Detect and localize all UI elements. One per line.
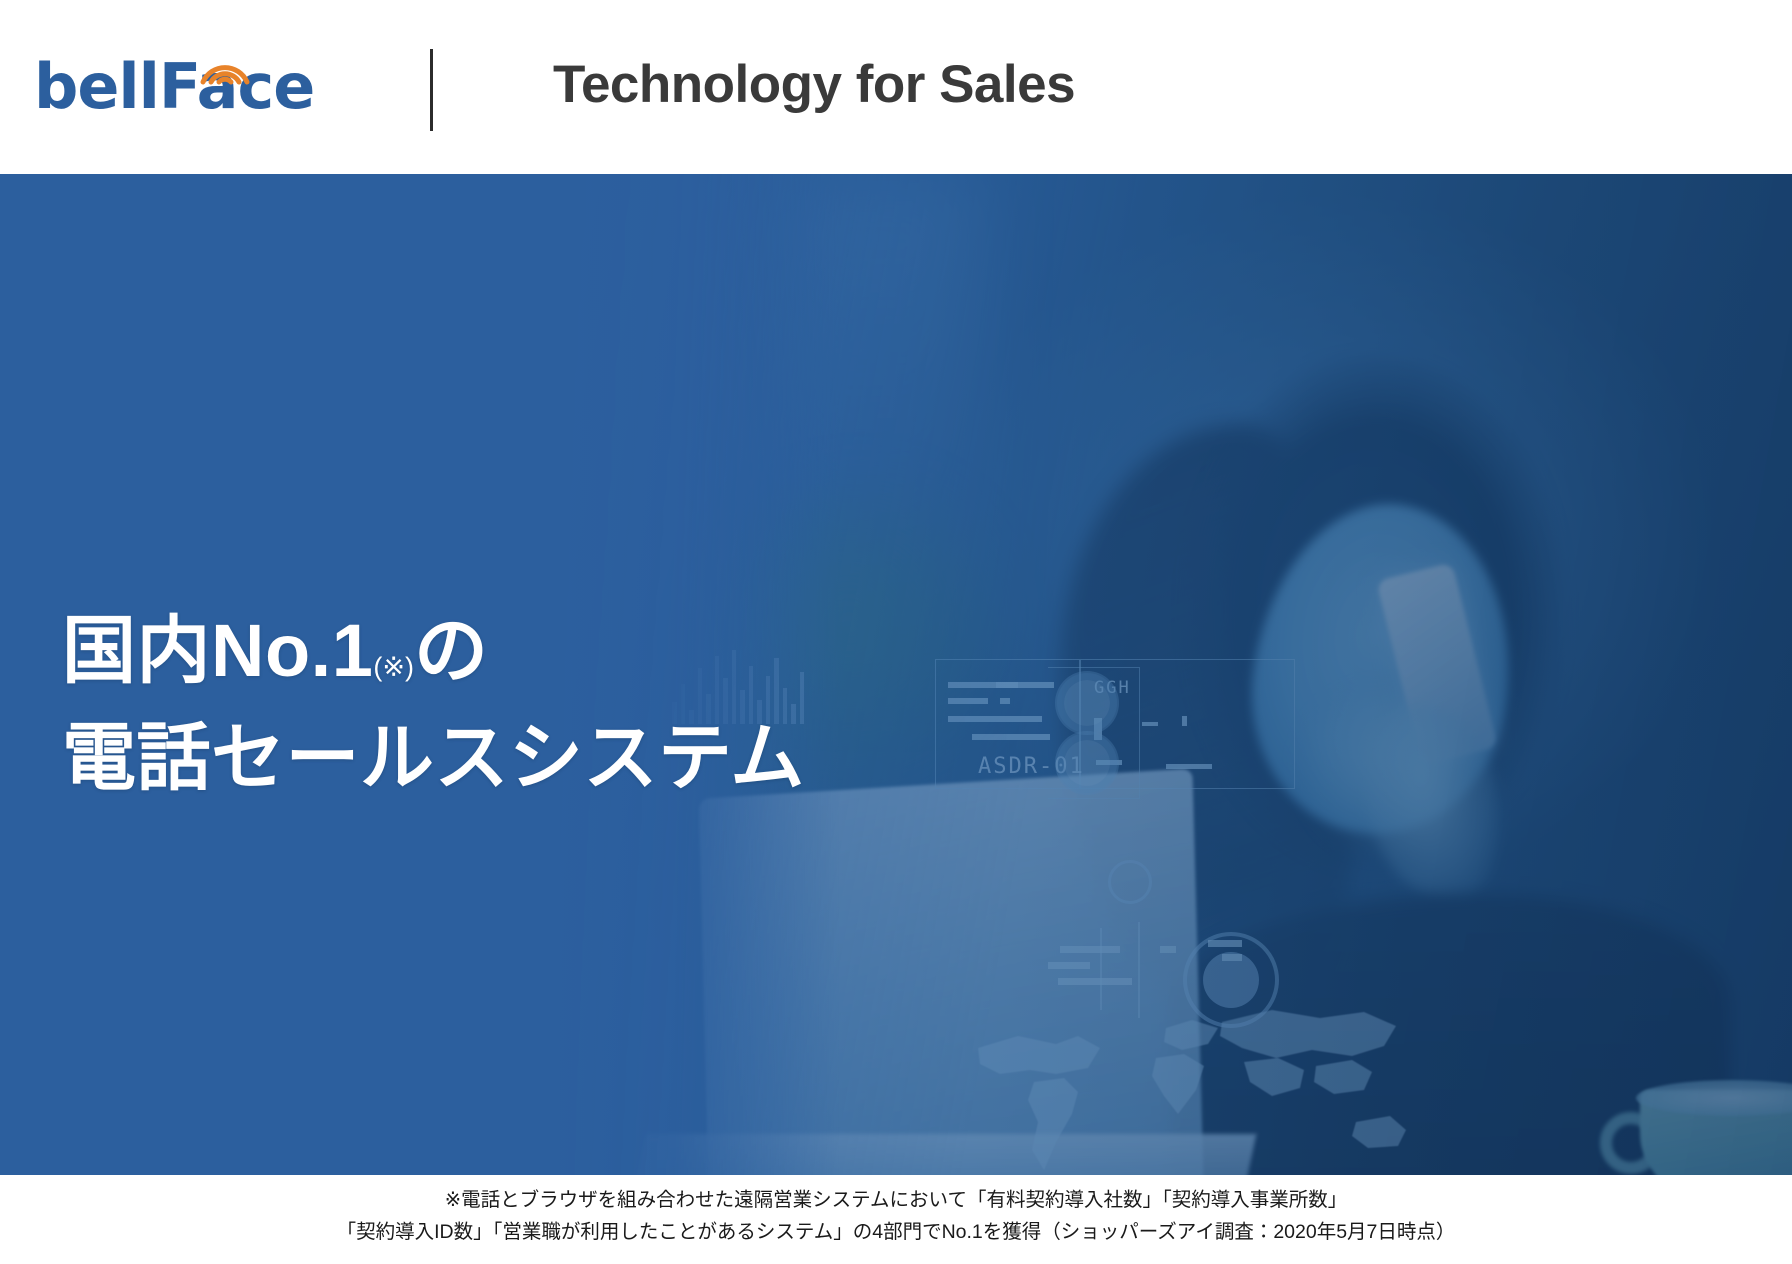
hero-headline: 国内No.1(※)の 電話セールスシステム: [62, 597, 805, 812]
footnote-line-2: 「契約導入ID数」「営業職が利用したことがあるシステム」の4部門でNo.1を獲得…: [0, 1217, 1792, 1249]
logo-wordmark: bellFace: [34, 56, 314, 118]
hero-section: GGH ASDR-01: [0, 174, 1792, 1175]
headline-line1-main: 国内No.1: [62, 609, 373, 692]
page-header: bellFace Technology for Sales: [0, 0, 1792, 174]
bellface-logo[interactable]: bellFace: [34, 56, 314, 118]
headline-line1-suffix: の: [414, 609, 489, 692]
header-tagline: Technology for Sales: [553, 54, 1075, 115]
slide-root: bellFace Technology for Sales: [0, 0, 1792, 1264]
headline-footnote-marker: (※): [373, 652, 414, 682]
footnote-block: ※電話とブラウザを組み合わせた遠隔営業システムにおいて「有料契約導入社数」「契約…: [0, 1175, 1792, 1264]
headline-line-2: 電話セールスシステム: [62, 704, 805, 811]
headline-line-1: 国内No.1(※)の: [62, 597, 805, 704]
footnote-line-1: ※電話とブラウザを組み合わせた遠隔営業システムにおいて「有料契約導入社数」「契約…: [0, 1185, 1792, 1217]
header-divider: [430, 49, 433, 131]
